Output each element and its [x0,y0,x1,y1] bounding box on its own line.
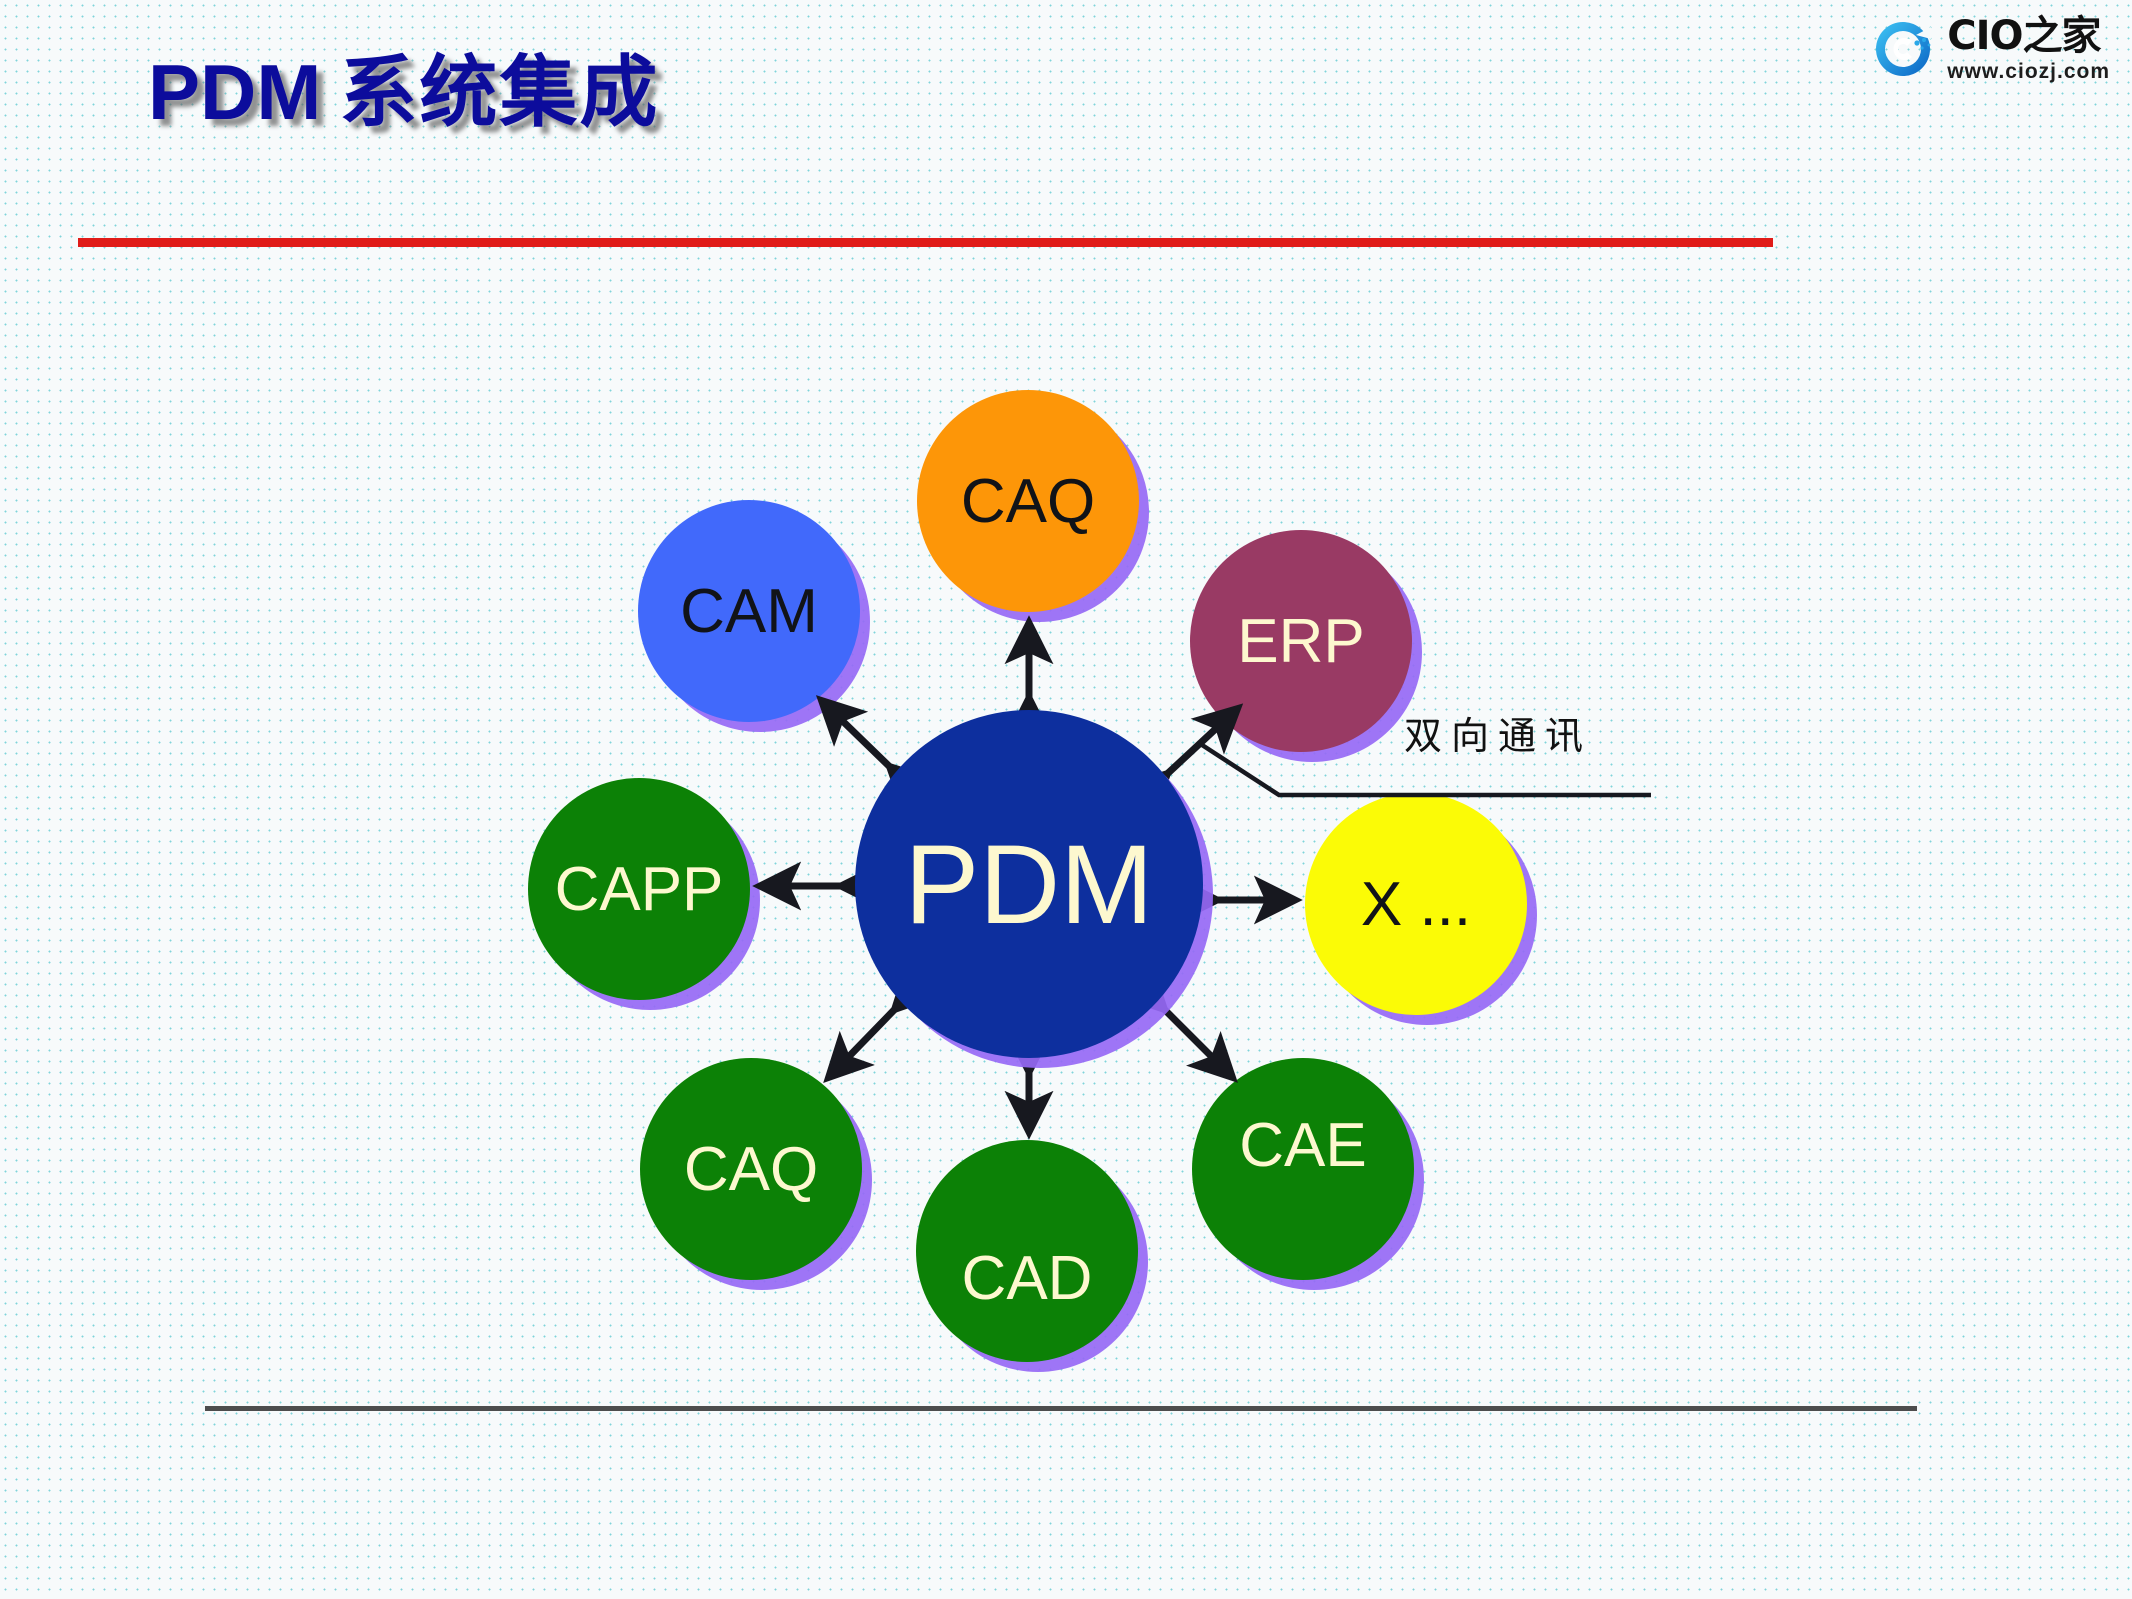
node-label: PDM [905,820,1154,949]
annotation-bidirectional-communication: 双向通讯 [1404,705,1592,760]
slide-canvas: PDM系统集成 CIO之家 [0,0,2132,1599]
pdm-integration-diagram: PDM CAQ CAM ERP CAPP X ... CAQ CAD CAE 双… [0,0,2132,1599]
node-pdm[interactable]: PDM [855,710,1203,1058]
